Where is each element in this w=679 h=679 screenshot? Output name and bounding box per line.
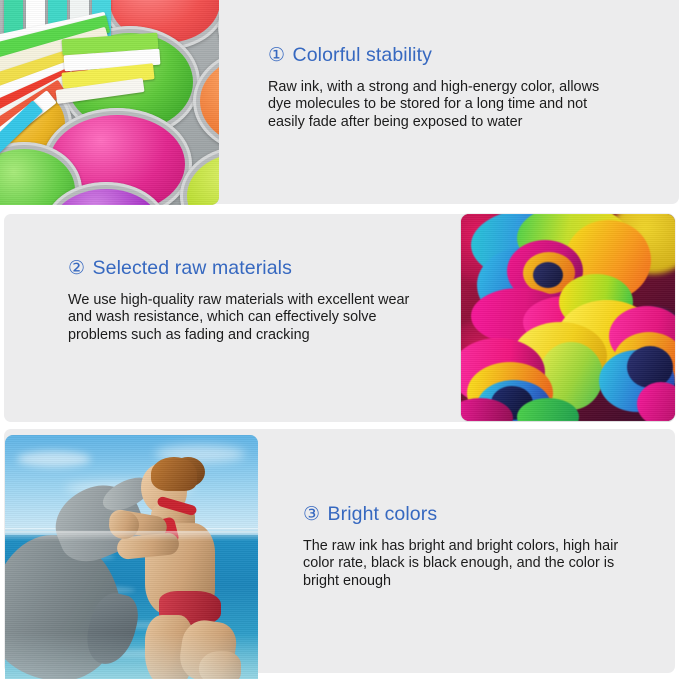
feature-heading-2: ② Selected raw materials [68, 257, 428, 280]
feature-heading-2-label: Selected raw materials [93, 257, 292, 279]
infographic-page: ① Colorful stability Raw ink, with a str… [0, 0, 679, 679]
rainbow-dyed-roses-bouquet-image [461, 214, 675, 421]
feature-heading-1: ① Colorful stability [268, 44, 608, 67]
feature-text-1: ① Colorful stability Raw ink, with a str… [268, 44, 608, 132]
woman-kissing-dolphin-underwater-image [5, 435, 258, 679]
feature-text-3: ③ Bright colors The raw ink has bright a… [303, 503, 643, 591]
circled-number-1: ① [268, 45, 291, 66]
paint-cans-with-color-swatch-fan-image [0, 0, 219, 205]
circled-number-2: ② [68, 258, 91, 279]
circled-number-3: ③ [303, 504, 326, 525]
feature-heading-1-label: Colorful stability [293, 44, 432, 66]
feature-body-3: The raw ink has bright and bright colors… [303, 538, 643, 591]
feature-heading-3-label: Bright colors [328, 503, 438, 525]
feature-text-2: ② Selected raw materials We use high-qua… [68, 257, 428, 345]
feature-body-1: Raw ink, with a strong and high-energy c… [268, 79, 608, 132]
feature-body-2: We use high-quality raw materials with e… [68, 292, 428, 345]
feature-heading-3: ③ Bright colors [303, 503, 643, 526]
